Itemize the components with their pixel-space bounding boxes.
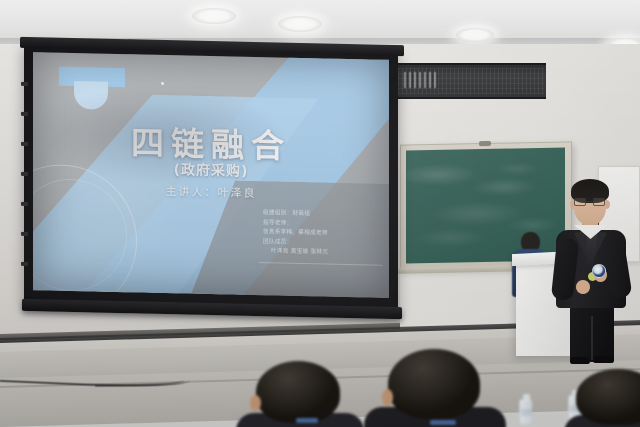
audience-member-1-hair-highlight	[256, 361, 340, 423]
audience-member-1-ear	[250, 395, 261, 411]
screen-tensioner-clip	[21, 112, 28, 116]
audience-member-3-hair-highlight	[576, 369, 640, 425]
projection-screen: 四链融合 (政府采购) 主讲人：叶泽良 组建组别：财商组 指导老师： 信息系李梅…	[24, 42, 398, 312]
presenter-shoe-left	[570, 357, 590, 364]
screen-tensioner-clip	[21, 142, 28, 146]
slide-credits-block: 组建组别：财商组 指导老师： 信息系李梅、蔡榕成老师 团队成员： 叶泽良 黄宝瑜…	[263, 209, 381, 260]
presenter-trouser-crease	[591, 316, 593, 360]
ceiling-vent-panel	[396, 63, 546, 99]
screen-tensioner-clip	[21, 232, 28, 236]
lecture-hall-photo: 四链融合 (政府采购) 主讲人：叶泽良 组建组别：财商组 指导老师： 信息系李梅…	[0, 0, 640, 427]
slide-logo-mark-icon	[59, 67, 125, 110]
screen-tensioner-clip	[21, 82, 28, 86]
screen-tensioner-clip	[21, 172, 28, 176]
presenter	[548, 176, 634, 362]
glasses-icon	[574, 198, 606, 206]
screen-tensioner-clip	[21, 202, 28, 206]
audience-member-2-ear	[382, 389, 393, 406]
green-chalkboard	[400, 141, 572, 270]
water-bottle-2	[519, 399, 532, 425]
audience-member-1-collar	[296, 418, 318, 423]
screen-tensioner-clip	[21, 262, 28, 266]
audience-member-2-hair-highlight	[388, 349, 480, 419]
audience-member-2-collar	[430, 420, 456, 425]
slide-dot-decoration	[161, 82, 164, 85]
presenter-emblem-badge	[592, 264, 606, 278]
audience-member-3	[576, 369, 640, 427]
audience-member-2	[378, 349, 490, 427]
presenter-hand-left	[576, 280, 590, 294]
presenter-shoe-right	[593, 356, 614, 363]
presentation-slide: 四链融合 (政府采购) 主讲人：叶泽良 组建组别：财商组 指导老师： 信息系李梅…	[33, 52, 389, 298]
chalkboard-clip-icon	[479, 141, 491, 146]
vent-grille-icon	[404, 72, 438, 88]
